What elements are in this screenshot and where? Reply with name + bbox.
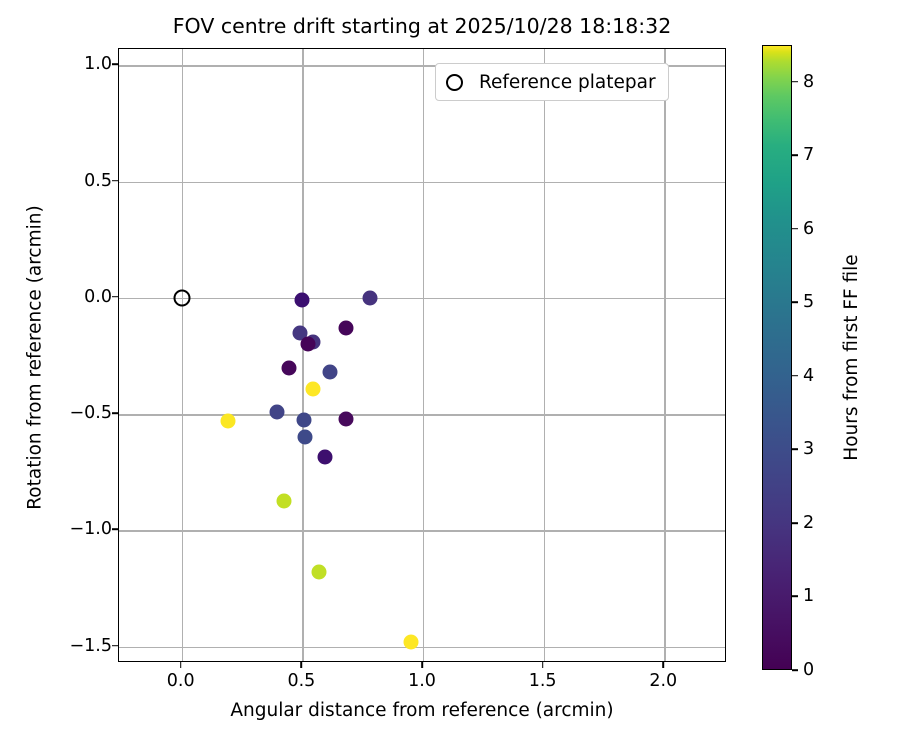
data-point xyxy=(318,450,333,465)
y-axis-tick-label: 0.5 xyxy=(84,171,112,191)
data-point xyxy=(403,635,418,650)
colorbar-tick xyxy=(792,154,798,156)
legend-reference-platepar-icon xyxy=(446,74,463,91)
colorbar-tick-label: 4 xyxy=(803,366,814,386)
colorbar-tick xyxy=(792,449,798,451)
colorbar-tick-label: 2 xyxy=(803,513,814,533)
plot-inner xyxy=(119,49,725,661)
x-axis-tick xyxy=(180,662,182,668)
x-axis-tick-label: 2.0 xyxy=(649,671,677,691)
plot-area xyxy=(118,48,726,662)
gridline-vertical xyxy=(302,49,303,661)
y-axis-tick-label: 0.0 xyxy=(84,287,112,307)
x-axis-tick xyxy=(542,662,544,668)
colorbar-tick-label: 0 xyxy=(803,660,814,680)
data-point xyxy=(297,430,312,445)
colorbar-tick xyxy=(792,375,798,377)
data-point xyxy=(338,321,353,336)
y-axis-tick xyxy=(112,63,118,65)
x-axis-tick-label: 0.0 xyxy=(167,671,195,691)
gridline-vertical xyxy=(544,49,545,661)
y-axis-tick xyxy=(112,180,118,182)
figure-canvas: FOV centre drift starting at 2025/10/28 … xyxy=(0,0,900,750)
gridline-vertical xyxy=(182,49,183,661)
colorbar-label: Hours from first FF file xyxy=(841,45,862,670)
data-point xyxy=(306,381,321,396)
colorbar: 012345678 xyxy=(762,45,792,670)
y-axis-tick-label: 1.0 xyxy=(84,54,112,74)
colorbar-tick xyxy=(792,669,798,671)
page-title: FOV centre drift starting at 2025/10/28 … xyxy=(118,14,726,38)
y-axis-tick xyxy=(112,645,118,647)
legend-item-label: Reference platepar xyxy=(479,72,656,93)
data-point xyxy=(282,360,297,375)
gridline-vertical xyxy=(423,49,424,661)
colorbar-tick xyxy=(792,522,798,524)
data-point xyxy=(312,565,327,580)
gridline-vertical xyxy=(664,49,665,661)
gridline-horizontal xyxy=(119,414,725,415)
x-axis-label: Angular distance from reference (arcmin) xyxy=(118,700,726,721)
data-point xyxy=(323,365,338,380)
y-axis-tick-label: −0.5 xyxy=(70,403,113,423)
data-point xyxy=(362,290,377,305)
x-axis-tick-label: 1.0 xyxy=(408,671,436,691)
y-axis-tick xyxy=(112,412,118,414)
reference-platepar-marker xyxy=(173,289,190,306)
colorbar-tick-label: 1 xyxy=(803,586,814,606)
colorbar-tick-label: 5 xyxy=(803,292,814,312)
x-axis-tick xyxy=(301,662,303,668)
gridline-horizontal xyxy=(119,182,725,183)
colorbar-tick xyxy=(792,302,798,304)
colorbar-tick-label: 7 xyxy=(803,145,814,165)
y-axis-tick-label: −1.5 xyxy=(70,636,113,656)
x-axis-tick-label: 1.5 xyxy=(529,671,557,691)
x-axis-tick-label: 0.5 xyxy=(287,671,315,691)
legend: Reference platepar xyxy=(435,63,669,101)
gridline-horizontal xyxy=(119,530,725,531)
data-point xyxy=(295,293,310,308)
colorbar-tick-label: 6 xyxy=(803,219,814,239)
colorbar-tick xyxy=(792,228,798,230)
data-point xyxy=(296,412,311,427)
y-axis-label: Rotation from reference (arcmin) xyxy=(25,51,46,665)
colorbar-tick xyxy=(792,596,798,598)
data-point xyxy=(220,414,235,429)
data-point xyxy=(277,494,292,509)
data-point xyxy=(270,404,285,419)
gridline-horizontal xyxy=(119,647,725,648)
x-axis-tick xyxy=(421,662,423,668)
colorbar-tick xyxy=(792,81,798,83)
data-point xyxy=(338,411,353,426)
y-axis-tick xyxy=(112,296,118,298)
colorbar-tick-label: 8 xyxy=(803,72,814,92)
data-point xyxy=(301,337,316,352)
y-axis-tick-label: −1.0 xyxy=(70,519,113,539)
y-axis-tick xyxy=(112,529,118,531)
x-axis-tick xyxy=(662,662,664,668)
gridline-horizontal xyxy=(119,298,725,299)
colorbar-gradient xyxy=(762,45,792,670)
colorbar-tick-label: 3 xyxy=(803,439,814,459)
